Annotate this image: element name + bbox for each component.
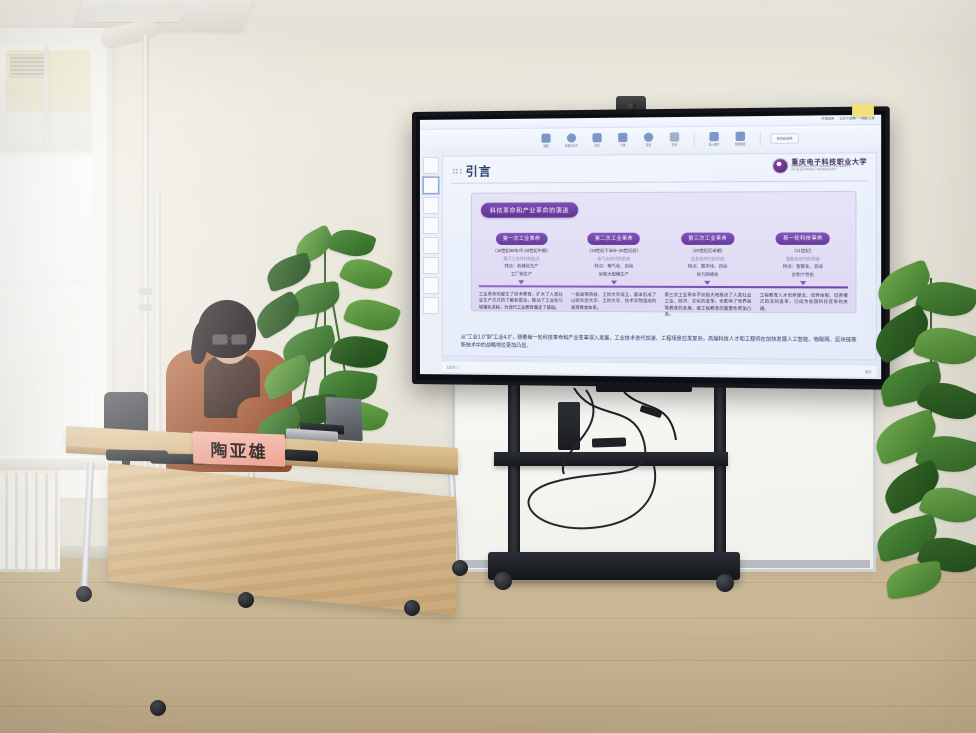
slide-thumb[interactable] [423,237,439,254]
column-subtitle: 智能化时代的到来 [758,256,848,262]
column-pill: 新一轮科技革命 [776,232,830,244]
display-screen[interactable]: 开始放映 幻灯片放映 视图 工具 粘贴 新建幻灯片 [420,115,881,379]
university-logo: 重庆电子科技职业大学 CHONGQING POLYTECHNIC UNIVERS… [772,158,867,174]
radiator [0,470,60,572]
smartphone[interactable] [284,449,318,462]
toolbar-new-slide[interactable]: 新建幻灯片 [562,133,581,147]
column-line1: 特点：数字化、自动 [664,263,752,269]
status-slide-number: 幻灯片 2 [447,365,459,369]
column-period: （20世纪后半期） [664,248,752,254]
table-caster [150,700,166,716]
content-panel: 科技革命和产业革命的演进 第一次工业革命 （18世纪60年代-19世纪中期） 蒸… [471,191,857,314]
slide-thumb[interactable] [423,297,439,314]
toolbar-insert-image[interactable]: 插入图片 [704,132,724,147]
column-line1: 特点：机械化生产 [479,263,564,269]
font-icon [618,133,627,142]
panel-heading-wrap: 科技革命和产业革命的演进 [481,199,578,218]
toolbar-paste[interactable]: 粘贴 [536,134,555,148]
column-note-1: 工业革命的催生了技术教育，扩大了人类社会生产方式的了解和普及，推动了工业化与城镇… [479,291,563,317]
column-pill: 第一次工业革命 [496,232,548,244]
slide-thumb[interactable] [423,197,439,214]
column-period: （19世纪下半叶-20世纪初） [570,248,657,254]
new-slide-icon [567,133,576,142]
name-placard: 陶亚雄 [193,431,286,466]
column-note-2: 一批高等院校、工科大学成立，基本形成了以研究型大学、工科大学、技术学院组成的高等… [571,292,656,318]
sticky-note [852,104,874,117]
slide-header: 引言 [453,162,492,179]
paragraph-icon [644,133,653,142]
timeline-divider [479,285,848,288]
interactive-display[interactable]: 开始放映 幻灯片放映 视图 工具 粘贴 新建幻灯片 [412,106,890,389]
down-arrow-icon [800,281,806,285]
down-arrow-icon [518,280,524,284]
university-name-en-2: OF ELECTRONIC TECHNOLOGY [791,169,867,172]
cart-caster-right [716,574,734,592]
column-period: （18世纪60年代-19世纪中期） [479,248,564,254]
revolution-column-1: 第一次工业革命 （18世纪60年代-19世纪中期） 蒸汽工业时代的起点 特点：机… [479,227,564,284]
toolbar-layout[interactable]: 版式 [587,133,606,147]
slide-thumb[interactable] [423,217,439,234]
potted-plant-right [872,268,976,598]
clipboard-icon [541,134,550,143]
toolbar-paragraph[interactable]: 段落 [639,133,659,147]
cart-caster-left [494,572,512,590]
column-subtitle: 蒸汽工业时代的起点 [479,256,564,262]
slide-thumb[interactable] [423,157,439,174]
header-divider [451,180,867,183]
column-period: （21世纪） [758,248,848,254]
column-note-3: 第三次工业革命不仅极大地推进了人类社会工业、经济、文化的变革，也影响了世界高等教… [665,292,752,318]
cable-bundle [494,382,734,562]
toolbar-shape[interactable]: 形状 [665,132,685,147]
status-notes[interactable]: 备注 [865,369,871,373]
decor-dots-icon [453,168,462,173]
revolution-columns: 第一次工业革命 （18世纪60年代-19世纪中期） 蒸汽工业时代的起点 特点：机… [479,226,848,285]
search-replace-button[interactable]: 查找和替换 [770,133,799,144]
column-note-4: 工程教育人才培养理念、培养体制、培养模式的深刻变革，已成为各国科技竞争的关键。 [760,292,848,318]
cart-base [488,552,740,580]
university-crest-icon [772,158,788,174]
shape-icon [670,132,679,141]
revolution-notes: 工业革命的催生了技术教育，扩大了人类社会生产方式的了解和普及，推动了工业化与城镇… [479,291,848,319]
revolution-column-2: 第二次工业革命 （19世纪下半叶-20世纪初） 电气化时代的到来 特点：电气化、… [570,227,657,285]
tab-slideshow[interactable]: 开始放映 [821,116,834,120]
slide-thumbnail-panel[interactable] [420,154,443,375]
column-line1: 特点：智能化、自适 [758,263,848,269]
slide-thumb[interactable] [423,277,439,294]
panel-heading: 科技革命和产业革命的演进 [481,202,578,217]
table-caster [452,560,468,576]
table-caster [404,600,420,616]
table-caster [76,586,92,602]
revolution-column-4: 新一轮科技革命 （21世纪） 智能化时代的到来 特点：智能化、自适 应和个性化 [758,226,848,285]
column-line2: 应和个性化 [758,271,848,277]
slide-thumb[interactable] [423,177,439,194]
column-subtitle: 电气化时代的到来 [570,256,657,262]
name-placard-text: 陶亚雄 [210,435,267,462]
slide-thumb[interactable] [423,257,439,274]
slide-summary-text: 从"工业1.0"到"工业4.0"，随着每一轮科技革命和产业变革深入发展，工业技术… [461,333,857,353]
current-slide[interactable]: 引言 重庆电子科技职业大学 CHONGQING POLYTECHNIC UNIV… [442,152,877,360]
down-arrow-icon [704,280,710,284]
smartart-icon [736,132,745,141]
wall-vent-outside [10,54,48,78]
toolbar-font[interactable]: 字体 [613,133,633,147]
column-line2: 化与网络化 [664,271,752,277]
app-statusbar: 幻灯片 2 备注 [442,360,877,377]
table-caster [238,592,254,608]
image-icon [709,132,718,141]
slide-workspace: 引言 重庆电子科技职业大学 CHONGQING POLYTECHNIC UNIV… [420,150,881,379]
eyeglasses-icon [212,334,247,343]
layout-icon [592,133,601,142]
column-subtitle: 信息化时代的开启 [664,256,752,262]
revolution-column-3: 第三次工业革命 （20世纪后半期） 信息化时代的开启 特点：数字化、自动 化与网… [664,226,752,284]
down-arrow-icon [611,280,617,284]
toolbar-smartart[interactable]: 智能图形 [730,132,750,147]
column-line2: 工厂制生产 [479,271,564,277]
column-line2: 化和大规模生产 [570,271,657,277]
column-line1: 特点：电气化、自动 [570,263,657,269]
column-pill: 第三次工业革命 [681,232,734,244]
ribbon-commands: 粘贴 新建幻灯片 版式 字体 [536,131,798,148]
presentation-room-photo: 开始放映 幻灯片放映 视图 工具 粘贴 新建幻灯片 [0,0,976,733]
column-pill: 第二次工业革命 [588,232,641,244]
slide-title: 引言 [466,162,492,179]
